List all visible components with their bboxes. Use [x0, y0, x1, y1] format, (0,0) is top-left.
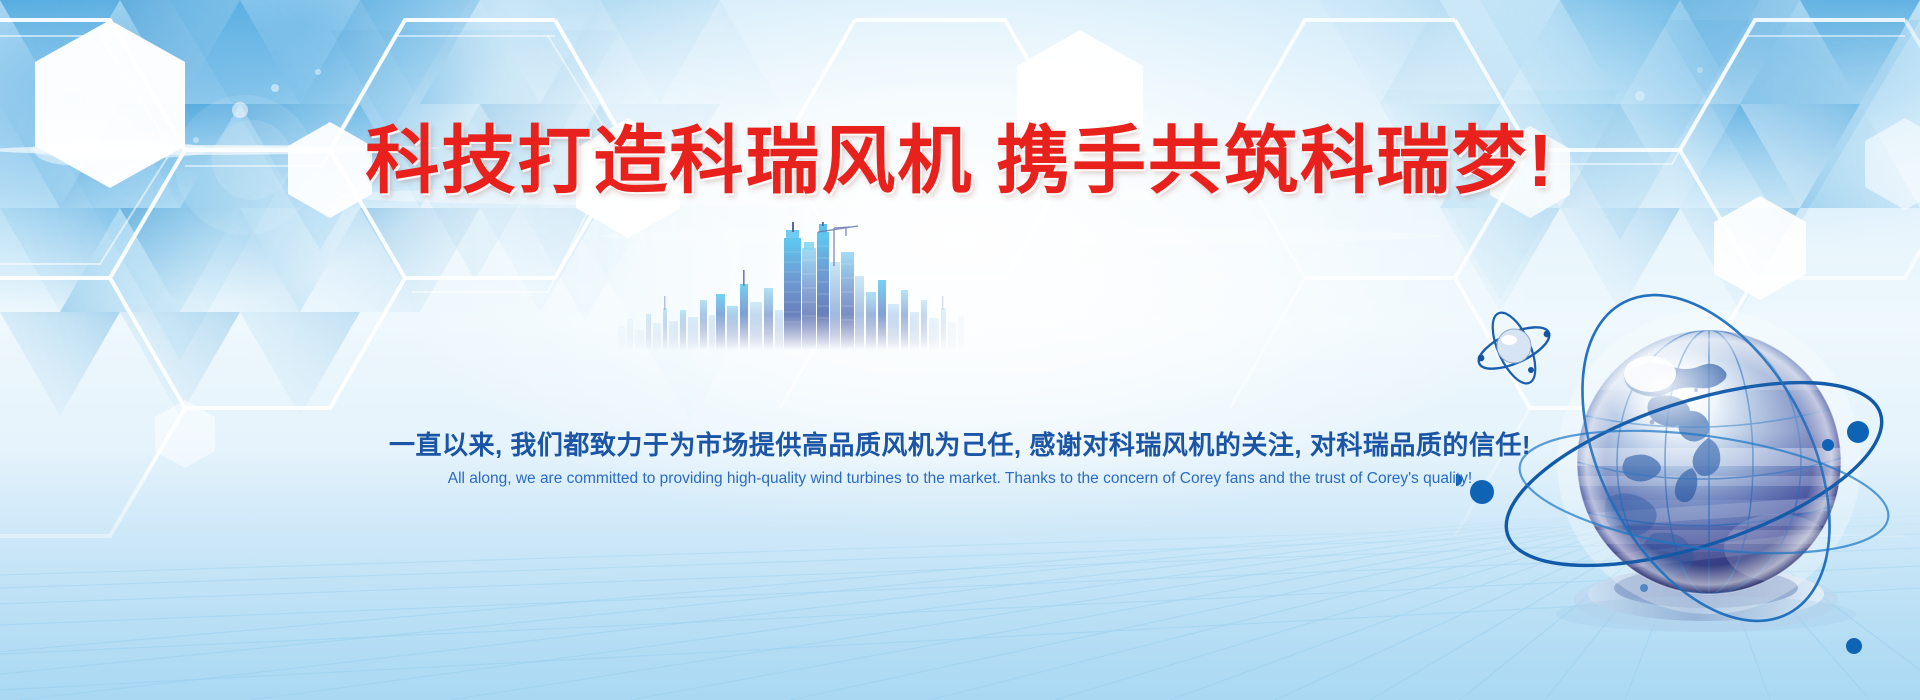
- banner-subtitle-chinese: 一直以来, 我们都致力于为市场提供高品质风机为己任, 感谢对科瑞风机的关注, 对…: [0, 430, 1920, 461]
- globe-pedestal: [1574, 568, 1838, 632]
- satellite-atom-icon: [1473, 307, 1555, 389]
- banner-subtitle-english: All along, we are committed to providing…: [0, 470, 1920, 489]
- banner-headline: 科技打造科瑞风机 携手共筑科瑞梦!: [0, 124, 1920, 198]
- lens-flare-streak: [0, 0, 1920, 700]
- headline-text: 科技打造科瑞风机 携手共筑科瑞梦!: [365, 119, 1554, 202]
- promotional-banner: 科技打造科瑞风机 携手共筑科瑞梦! 一直以来, 我们都致力于为市场提供高品质风机…: [0, 0, 1920, 700]
- hexagon-network-pattern: [0, 0, 1920, 700]
- orbit-rings: [1485, 262, 1902, 662]
- cityscape-skyline: [612, 222, 972, 350]
- triangle-mesh-pattern: [0, 0, 1920, 700]
- orbit-rings-front: [1485, 262, 1902, 662]
- globe-graticule: [1577, 330, 1841, 594]
- background-wash-left: [0, 0, 760, 430]
- globe-sphere: [1577, 330, 1841, 594]
- perspective-grid-floor: [0, 0, 1920, 700]
